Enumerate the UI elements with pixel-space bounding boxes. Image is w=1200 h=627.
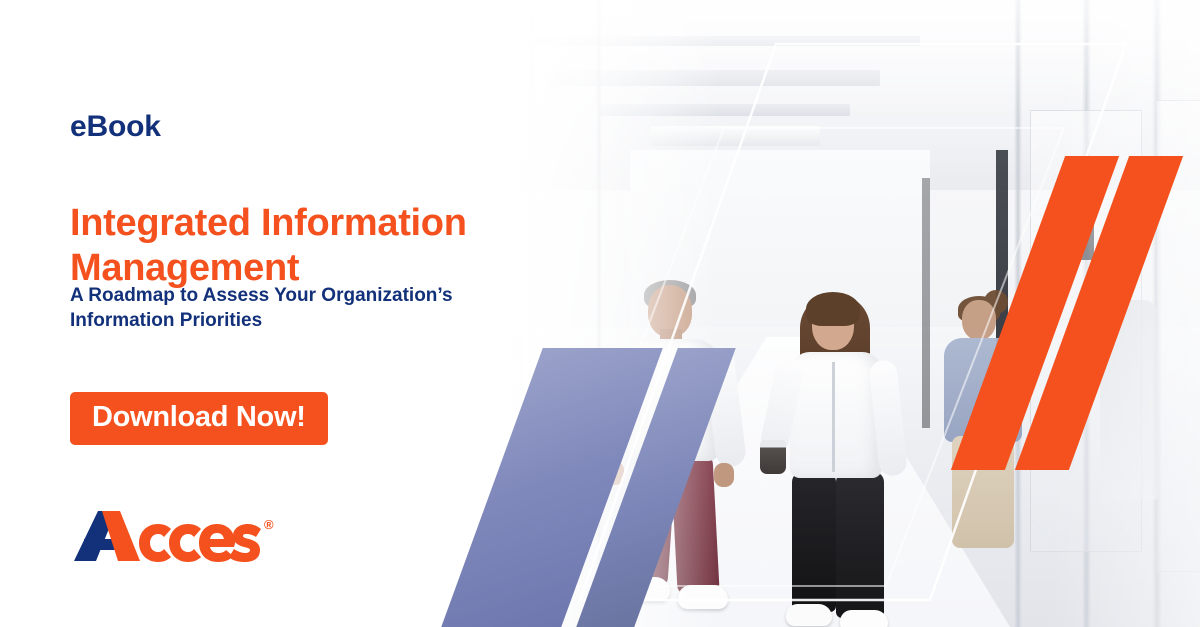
- ebook-promo-banner: eBook Integrated Information Management …: [0, 0, 1200, 627]
- eyebrow-label: eBook: [70, 110, 161, 144]
- head: [962, 300, 996, 340]
- access-wordmark: [72, 503, 262, 565]
- access-logo[interactable]: ®: [72, 503, 274, 565]
- right-leg: [836, 472, 884, 618]
- left-leg: [792, 472, 836, 612]
- subtitle: A Roadmap to Assess Your Organization’s …: [70, 283, 490, 333]
- download-now-button[interactable]: Download Now!: [70, 392, 328, 445]
- hair-front: [806, 292, 860, 326]
- left-sneaker: [786, 604, 832, 626]
- content-panel: eBook Integrated Information Management …: [0, 0, 480, 627]
- white-blouse: [790, 352, 882, 478]
- page-title: Integrated Information Management: [70, 201, 530, 291]
- woman-walking: [756, 300, 926, 627]
- blouse-placket: [832, 362, 835, 472]
- right-sneaker: [840, 610, 888, 627]
- registered-trademark-symbol: ®: [264, 517, 274, 532]
- coffee-cup: [760, 440, 786, 474]
